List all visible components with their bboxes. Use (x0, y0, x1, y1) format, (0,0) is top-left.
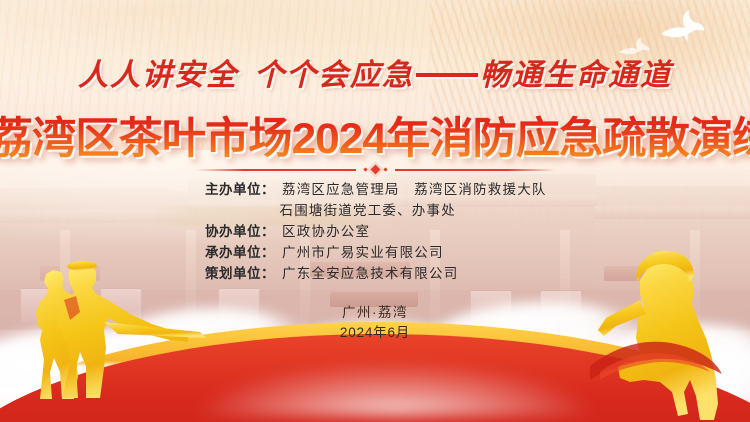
page-title: 荔湾区茶叶市场2024年消防应急疏散演练 (0, 104, 750, 166)
organizer-label: 协办单位： (205, 221, 275, 242)
organizer-block: 主办单位： 荔湾区应急管理局 荔湾区消防救援大队 主办单位： 石围塘街道党工委、… (0, 179, 750, 284)
divider-diamond (367, 162, 383, 178)
organizer-row-coorganizer: 协办单位： 区政协办公室 (0, 221, 750, 242)
divider-line-left (196, 169, 356, 171)
footer-date: 2024年6月 (0, 323, 750, 343)
organizer-value: 荔湾区应急管理局 荔湾区消防救援大队 (282, 179, 547, 200)
divider-ornament (364, 164, 387, 175)
organizer-label: 策划单位： (205, 263, 275, 284)
footer-location: 广州·荔湾 (0, 303, 750, 323)
divider-dot (383, 167, 387, 171)
organizer-value: 广东全安应急技术有限公司 (282, 263, 458, 284)
organizer-label: 承办单位： (205, 242, 275, 263)
organizer-value-continuation: 石围塘街道党工委、办事处 (280, 200, 456, 221)
divider-dot (363, 167, 367, 171)
slogan-part3: 畅通生命通道 (480, 59, 672, 92)
organizer-row-undertaker: 承办单位： 广州市广易实业有限公司 (0, 242, 750, 263)
poster-content: 人人讲安全个个会应急畅通生命通道 荔湾区茶叶市场2024年消防应急疏散演练 主办… (0, 0, 750, 422)
organizer-label: 主办单位： (205, 179, 275, 200)
poster-canvas: 人人讲安全个个会应急畅通生命通道 荔湾区茶叶市场2024年消防应急疏散演练 主办… (0, 0, 750, 422)
organizer-value: 区政协办公室 (282, 221, 370, 242)
slogan-part1: 人人讲安全 (78, 59, 238, 92)
organizer-row-host: 主办单位： 荔湾区应急管理局 荔湾区消防救援大队 (0, 179, 750, 200)
slogan-part2: 个个会应急 (254, 59, 414, 92)
organizer-value: 广州市广易实业有限公司 (282, 242, 444, 263)
ornament-divider (0, 164, 750, 175)
footer-block: 广州·荔湾 2024年6月 (0, 303, 750, 343)
organizer-row-host-continuation: 主办单位： 石围塘街道党工委、办事处 (0, 200, 750, 221)
organizer-row-planner: 策划单位： 广东全安应急技术有限公司 (0, 263, 750, 284)
divider-line-right (395, 169, 555, 171)
slogan-dash (416, 73, 478, 77)
slogan-line: 人人讲安全个个会应急畅通生命通道 (0, 50, 750, 94)
